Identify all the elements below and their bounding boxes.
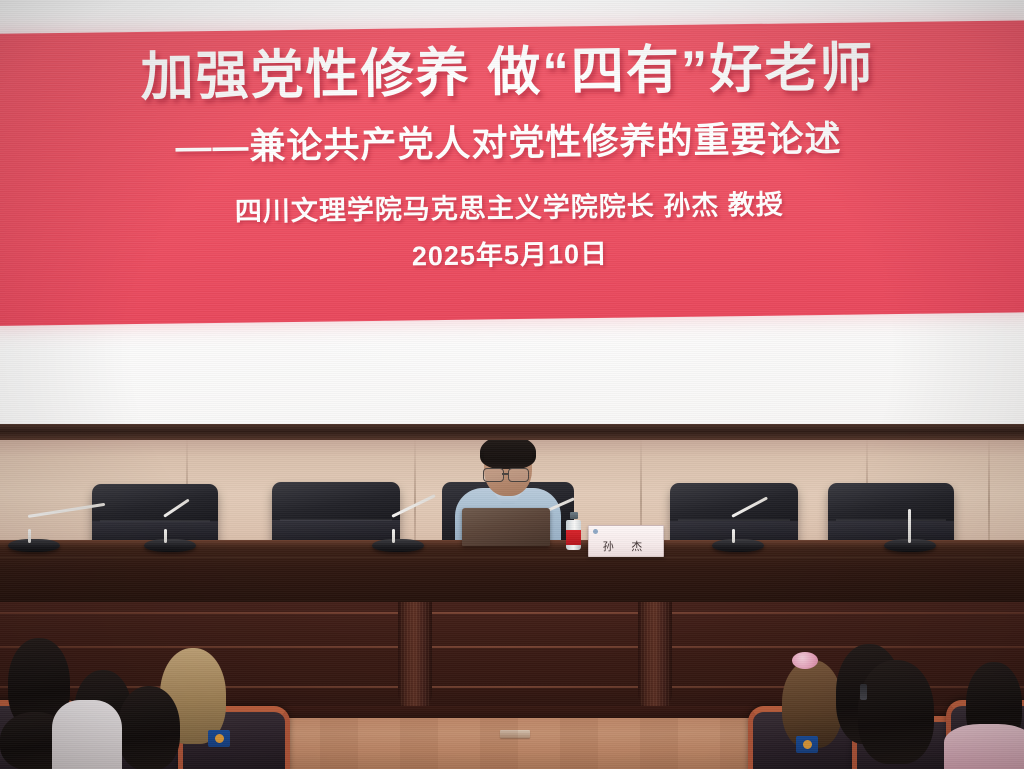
stage-pilaster (638, 600, 672, 710)
microphone-base (8, 539, 60, 552)
microphone-neck (392, 529, 395, 543)
projection-screen: 加强党性修养 做“四有”好老师 ——兼论共产党人对党性修养的重要论述 四川文理学… (0, 0, 1024, 436)
microphone (712, 508, 792, 552)
seat-tag-dot-icon (803, 740, 812, 749)
slide-speaker-line: 四川文理学院马克思主义学院院长 孙杰 教授 (235, 183, 784, 229)
slide-date: 2025年5月10日 (412, 232, 609, 274)
stage-rail (0, 612, 1024, 614)
microphone-neck (732, 529, 735, 543)
slide-banner: 加强党性修养 做“四有”好老师 ——兼论共产党人对党性修养的重要论述 四川文理学… (0, 20, 1024, 326)
audience-shoulder (52, 700, 122, 769)
audience-head (118, 686, 180, 769)
name-plate: 孙 杰 (588, 525, 664, 557)
laptop-lid (462, 508, 550, 546)
table-front-panel (0, 549, 1024, 602)
microphone-neck (908, 509, 911, 543)
glasses-icon (508, 468, 529, 482)
microphone (884, 502, 954, 552)
audience-head (858, 660, 934, 764)
laptop (462, 508, 550, 548)
microphone (372, 508, 442, 552)
bottle-cap (570, 512, 578, 519)
bottle-label (566, 530, 581, 545)
microphone-base (372, 539, 424, 552)
slide-subtitle: ——兼论共产党人对党性修养的重要论述 (175, 110, 842, 171)
microphone (8, 508, 98, 552)
slide-content: 加强党性修养 做“四有”好老师 ——兼论共产党人对党性修养的重要论述 四川文理学… (0, 20, 1024, 326)
screen-bottom-frame (0, 424, 1024, 440)
glasses-bridge (502, 473, 508, 475)
audience-head (782, 660, 842, 748)
seat-number-tag (208, 730, 230, 747)
slide-title: 加强党性修养 做“四有”好老师 (140, 38, 874, 107)
seat-tag-dot-icon (215, 734, 224, 743)
audience-shoulder (944, 724, 1024, 769)
water-bottle (566, 512, 581, 550)
glasses-icon (483, 468, 504, 482)
stage-pilaster (398, 600, 432, 710)
hair-scrunchie (792, 652, 818, 669)
microphone (144, 508, 214, 552)
hair-clip (860, 684, 867, 700)
nameplate-text: 孙 杰 (603, 538, 650, 554)
seat-number-tag (796, 736, 818, 753)
lecture-hall-photo: 加强党性修养 做“四有”好老师 ——兼论共产党人对党性修养的重要论述 四川文理学… (0, 0, 1024, 769)
nameplate-logo-icon (593, 529, 598, 534)
speaker-hair (480, 435, 536, 469)
microphone-base (712, 539, 764, 552)
microphone-neck (28, 529, 31, 543)
microphone-neck (164, 529, 167, 543)
microphone-base (144, 539, 196, 552)
floor-outlet-plate (500, 730, 530, 738)
